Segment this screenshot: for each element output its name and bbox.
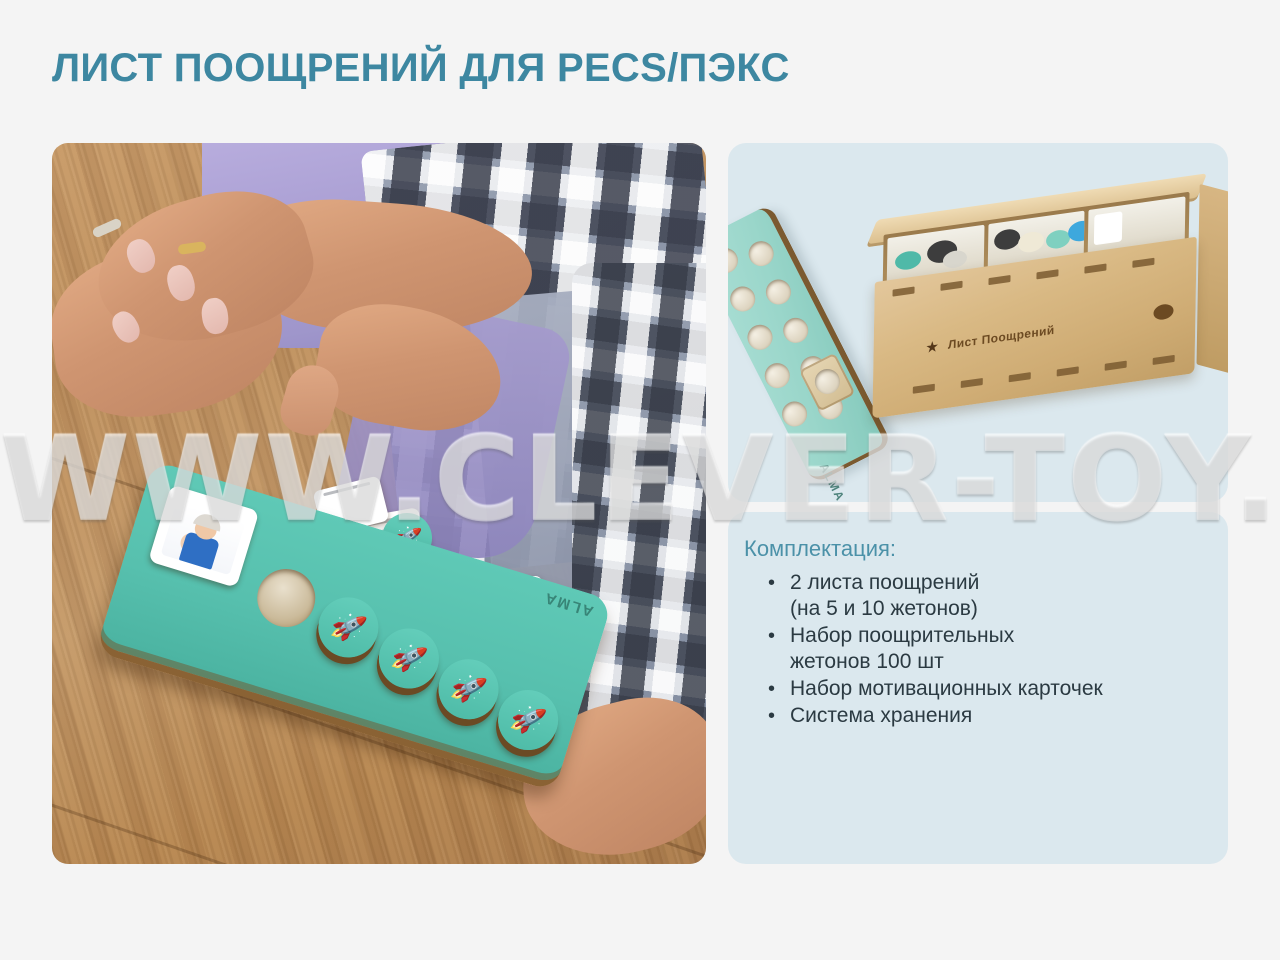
motivation-card <box>1094 211 1123 245</box>
box-notch <box>1153 355 1175 365</box>
token-stack <box>895 250 921 272</box>
kit-list: 2 листа поощрений (на 5 и 10 жетонов) На… <box>760 570 1210 730</box>
slide-root: ЛИСТ ПООЩРЕНИЙ ДЛЯ PECS/ПЭКС <box>0 0 1280 960</box>
token-slot <box>728 244 742 278</box>
token-slot <box>762 275 796 309</box>
token-slot <box>743 320 777 354</box>
box-notch <box>1036 269 1058 279</box>
list-item: 2 листа поощрений (на 5 и 10 жетонов) <box>760 570 1210 622</box>
storage-box-illustration: ALMA <box>728 143 1228 502</box>
box-notch <box>1057 366 1079 376</box>
brand-mark-icon <box>1153 303 1173 321</box>
card-thumbnail <box>161 502 246 576</box>
rocket-icon: 🚀 <box>328 610 368 646</box>
box-notch <box>913 384 935 394</box>
product-render-panel: ALMA <box>728 143 1228 502</box>
token-slot-filled: 🚀 <box>311 590 386 665</box>
list-item-line2: (на 5 и 10 жетонов) <box>790 596 1210 622</box>
page-title: ЛИСТ ПООЩРЕНИЙ ДЛЯ PECS/ПЭКС <box>52 46 790 91</box>
board-logo: ALMA <box>541 589 595 620</box>
token-slot-filled: 🚀 <box>431 652 506 727</box>
list-item: Система хранения <box>760 703 1210 729</box>
box-notch <box>1105 361 1127 371</box>
wooden-storage-box: ★ Лист Поощрений <box>872 179 1205 426</box>
token-slot-filled: 🚀 <box>491 683 566 758</box>
box-right-side <box>1197 184 1228 376</box>
token-slot <box>744 237 778 271</box>
list-item-line1: 2 листа поощрений <box>790 571 979 594</box>
token-stack <box>1018 230 1044 254</box>
card-figure <box>179 531 220 570</box>
product-photo-panel: 🚀 ALMA 🚀 🚀 🚀 <box>52 143 706 864</box>
box-notch <box>1132 258 1154 268</box>
child-plaid-sleeve <box>572 263 706 743</box>
token-slot <box>778 397 812 431</box>
box-notch <box>961 378 983 388</box>
rocket-icon: 🚀 <box>508 702 548 738</box>
board-motivation-card <box>148 484 259 587</box>
token-slot <box>728 282 759 316</box>
box-notch <box>988 275 1010 285</box>
list-item-line2: жетонов 100 шт <box>790 649 1210 675</box>
sheet-logo: ALMA <box>817 461 848 502</box>
token-slot-filled: 🚀 <box>371 621 446 696</box>
token-slot-empty <box>250 562 322 634</box>
token-stack <box>1046 229 1070 250</box>
box-engraving-text: Лист Поощрений <box>948 323 1055 352</box>
box-engraving: ★ Лист Поощрений <box>925 305 1155 359</box>
list-item: Набор мотивационных карточек <box>760 676 1210 702</box>
token-stack <box>994 228 1020 252</box>
rocket-icon: 🚀 <box>389 641 429 677</box>
star-icon: ★ <box>925 339 939 356</box>
token-stack <box>1068 219 1085 243</box>
photo-scene: 🚀 ALMA 🚀 🚀 🚀 <box>52 143 706 864</box>
list-item-line1: Набор мотивационных карточек <box>790 677 1103 700</box>
list-item-line1: Система хранения <box>790 704 972 727</box>
list-item-line1: Набор поощрительных <box>790 624 1014 647</box>
box-notch <box>892 287 914 297</box>
rocket-icon: 🚀 <box>448 671 488 707</box>
list-item: Набор поощрительных жетонов 100 шт <box>760 623 1210 675</box>
box-notch <box>1084 263 1106 273</box>
token-slot <box>779 314 813 348</box>
box-notch <box>1009 372 1031 382</box>
token-slot <box>811 365 845 399</box>
box-notch <box>940 281 962 291</box>
token-slot <box>760 359 794 393</box>
kit-heading: Комплектация: <box>744 536 896 562</box>
